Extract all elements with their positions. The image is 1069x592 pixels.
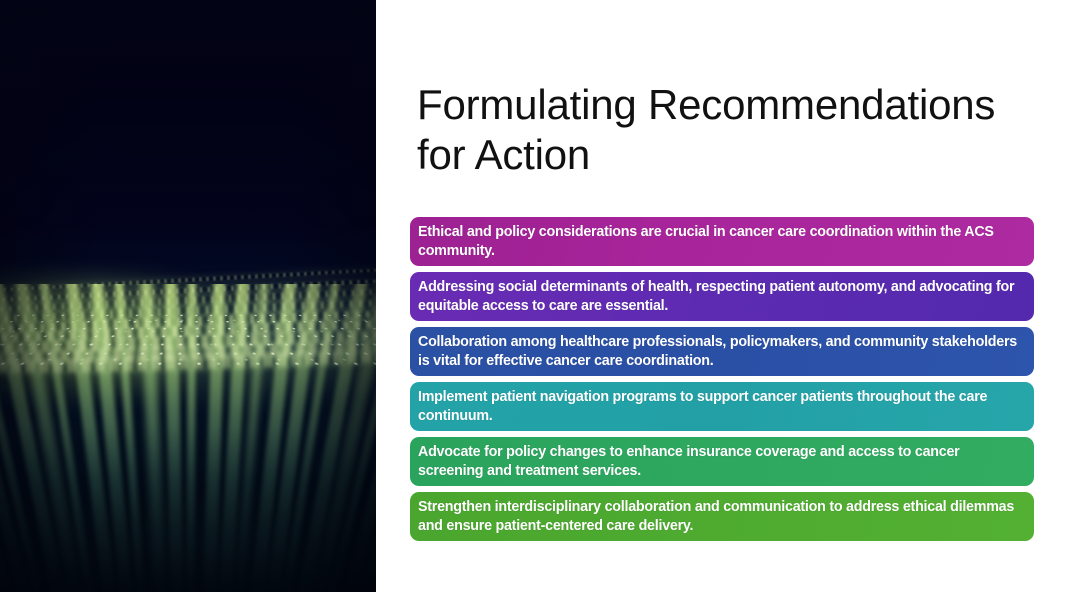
recommendation-bar-2-text: Addressing social determinants of health… — [418, 278, 1022, 314]
recommendation-bar-6[interactable]: Strengthen interdisciplinary collaborati… — [410, 492, 1034, 541]
recommendation-bar-2[interactable]: Addressing social determinants of health… — [410, 272, 1034, 321]
recommendation-bar-1[interactable]: Ethical and policy considerations are cr… — [410, 217, 1034, 266]
image-vignette — [0, 0, 376, 592]
recommendation-bar-3-text: Collaboration among healthcare professio… — [418, 333, 1022, 369]
recommendation-bar-3[interactable]: Collaboration among healthcare professio… — [410, 327, 1034, 376]
slide-image-panel — [0, 0, 376, 592]
slide-content: Formulating Recommendations for Action E… — [376, 0, 1069, 592]
recommendation-bar-4-text: Implement patient navigation programs to… — [418, 388, 1022, 424]
page-title: Formulating Recommendations for Action — [417, 80, 1017, 180]
recommendation-bar-4[interactable]: Implement patient navigation programs to… — [410, 382, 1034, 431]
recommendation-bar-1-text: Ethical and policy considerations are cr… — [418, 223, 1022, 259]
recommendation-bar-5[interactable]: Advocate for policy changes to enhance i… — [410, 437, 1034, 486]
recommendation-bar-5-text: Advocate for policy changes to enhance i… — [418, 443, 1022, 479]
recommendation-bar-6-text: Strengthen interdisciplinary collaborati… — [418, 498, 1022, 534]
slide: Formulating Recommendations for Action E… — [0, 0, 1069, 592]
recommendation-bar-list: Ethical and policy considerations are cr… — [410, 217, 1034, 547]
